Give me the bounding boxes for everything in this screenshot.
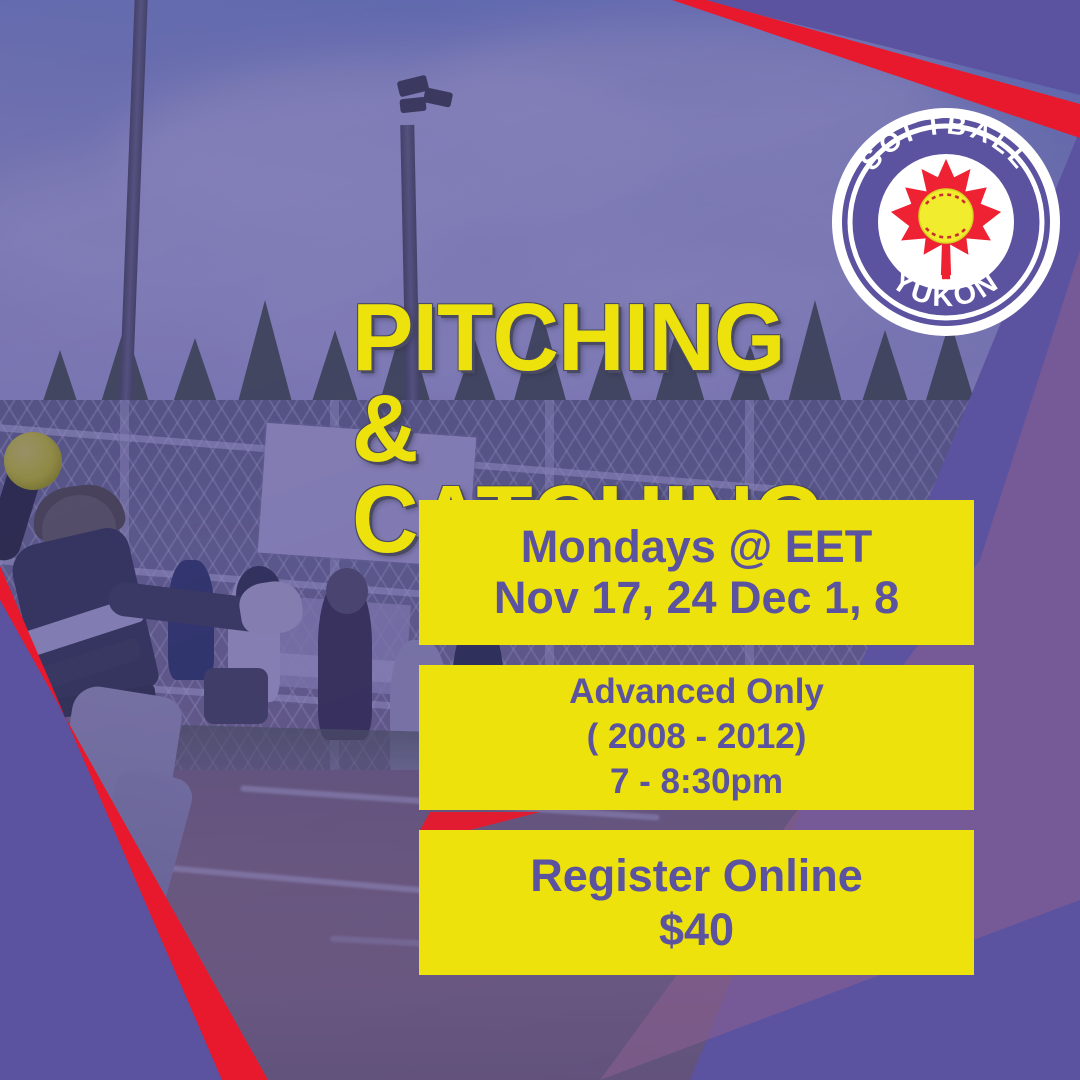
- eligibility-panel: Advanced Only ( 2008 - 2012) 7 - 8:30pm: [419, 665, 974, 810]
- registration-price: $40: [659, 903, 734, 956]
- eligibility-line-2: ( 2008 - 2012): [587, 715, 807, 760]
- schedule-line-1: Mondays @ EET: [521, 522, 872, 572]
- softball-icon: [919, 189, 973, 243]
- eligibility-line-3: 7 - 8:30pm: [610, 760, 783, 805]
- poster-canvas: SOFTBALL YUKON PITCHING & CATCHING Monda…: [0, 0, 1080, 1080]
- registration-panel[interactable]: Register Online $40: [419, 830, 974, 975]
- eligibility-line-1: Advanced Only: [569, 670, 824, 715]
- schedule-line-2: Nov 17, 24 Dec 1, 8: [494, 573, 899, 623]
- schedule-panel: Mondays @ EET Nov 17, 24 Dec 1, 8: [419, 500, 974, 645]
- registration-line-1: Register Online: [530, 849, 863, 902]
